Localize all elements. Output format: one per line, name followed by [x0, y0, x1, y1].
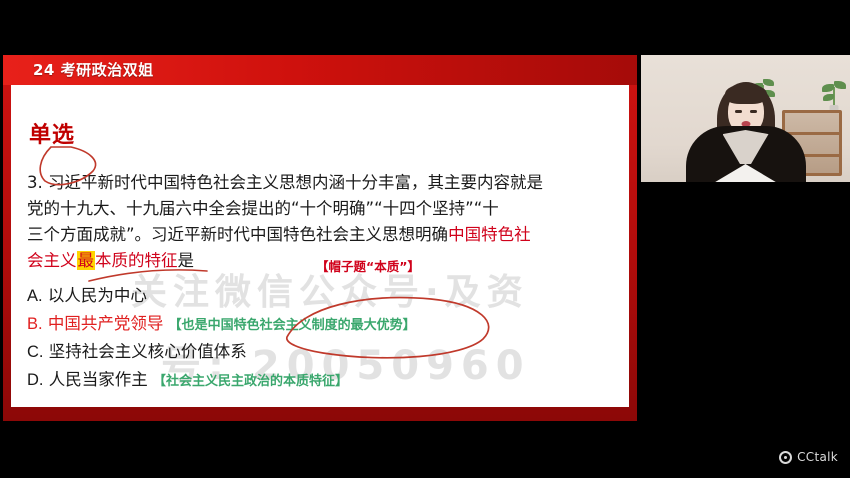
answer-option-d: D. 人民当家作主 【社会主义民主政治的本质特征】 [27, 372, 348, 389]
option-c-label: C. [27, 343, 44, 361]
question-line-4-red-post: 本质的特征 [95, 251, 178, 270]
underline-under-option-a-icon [89, 270, 207, 281]
question-line-3: 三个方面成就”。习近平新时代中国特色社会主义思想明确中国特色社 [27, 227, 531, 244]
answer-option-a: A. 以人民为中心 [27, 288, 147, 305]
hair-front [725, 84, 767, 104]
eye-right [750, 110, 757, 113]
section-heading: 单选 [29, 117, 75, 149]
video-player-stage: 24 考研政治双姐 关注微信公众号·及资 号: 20050960 单选 3. 习… [0, 0, 850, 478]
question-line-1: 3. 习近平新时代中国特色社会主义思想内涵十分丰富，其主要内容就是 [27, 175, 543, 192]
option-a-text: 以人民为中心 [48, 286, 147, 305]
cctalk-label: CCtalk [797, 450, 838, 464]
option-a-label: A. [27, 287, 43, 305]
question-line-4-red-pre: 会主义 [27, 251, 77, 270]
question-line-4-black: 是 [178, 251, 195, 270]
question-line-4: 会主义最本质的特征是 [27, 253, 194, 270]
question-line-3-black: 三个方面成就”。习近平新时代中国特色社会主义思想明确 [27, 225, 448, 244]
answer-option-c: C. 坚持社会主义核心价值体系 [27, 344, 247, 361]
slide-header-title: 24 考研政治双姐 [33, 59, 154, 80]
question-topic-tag: 【帽子题“本质”】 [316, 256, 420, 275]
option-b-note: 【也是中国特色社会主义制度的最大优势】 [169, 318, 416, 333]
presentation-slide: 24 考研政治双姐 关注微信公众号·及资 号: 20050960 单选 3. 习… [3, 55, 637, 421]
option-d-text: 人民当家作主 [49, 370, 148, 389]
presenter-figure [683, 78, 809, 182]
answer-option-b: B. 中国共产党领导 【也是中国特色社会主义制度的最大优势】 [27, 316, 416, 333]
option-d-label: D. [27, 371, 44, 389]
option-b-text: 中国共产党领导 [48, 314, 164, 333]
option-b-label: B. [27, 315, 43, 333]
cctalk-branding: CCtalk [779, 450, 838, 464]
option-d-note: 【社会主义民主政治的本质特征】 [153, 374, 348, 389]
question-line-2: 党的十九大、十九届六中全会提出的“十个明确”“十四个坚持”“十 [27, 201, 499, 218]
eye-left [735, 110, 742, 113]
slide-content-area: 关注微信公众号·及资 号: 20050960 单选 3. 习近平新时代中国特色社… [11, 85, 629, 407]
option-c-text: 坚持社会主义核心价值体系 [49, 342, 247, 361]
question-line-3-red: 中国特色社 [448, 225, 531, 244]
presenter-webcam-video[interactable] [641, 55, 850, 182]
question-highlighted-char: 最 [77, 251, 96, 270]
cctalk-logo-icon [779, 451, 792, 464]
